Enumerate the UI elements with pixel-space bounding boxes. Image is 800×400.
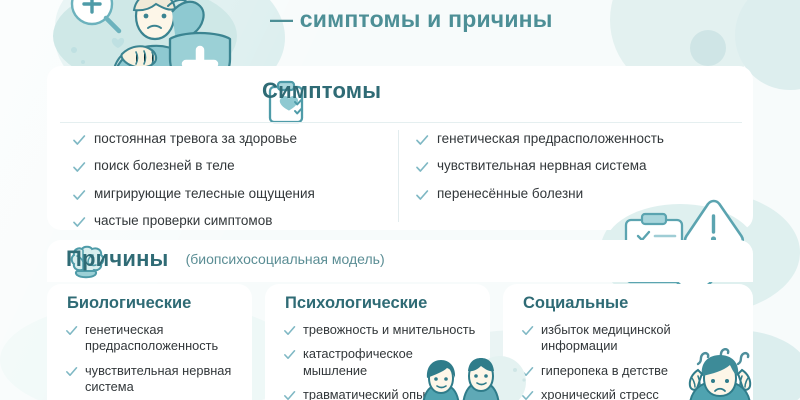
list-item: поиск болезней в теле (72, 158, 392, 175)
check-icon (72, 215, 85, 228)
list-item-label: поиск болезней в теле (94, 158, 235, 175)
check-icon (283, 348, 296, 361)
symptoms-divider-vertical (398, 130, 399, 222)
check-icon (283, 389, 296, 400)
list-item-label: хронический стресс (541, 387, 659, 400)
couple-illustration (405, 356, 535, 400)
check-icon (521, 324, 534, 337)
stressed-woman-illustration (668, 348, 798, 400)
check-icon (415, 188, 428, 201)
causes-heading-text: Причины (66, 246, 169, 272)
list-item: постоянная тревога за здоровье (72, 131, 392, 148)
list-item: частые проверки симптомов (72, 213, 392, 230)
check-icon (72, 133, 85, 146)
list-item: мигрирующие телесные ощущения (72, 186, 392, 203)
check-icon (415, 133, 428, 146)
causes-heading-note: (биопсихосоциальная модель) (186, 251, 385, 267)
list-item-label: частые проверки симптомов (94, 213, 272, 230)
list-item: тревожность и мнительность (283, 322, 480, 338)
card-title: Биологические (67, 294, 252, 313)
list-item: генетическая предрасположенность (65, 322, 242, 355)
list-item: чувствительная нервная система (65, 363, 242, 396)
causes-card-biological: Биологические генетическая предрасположе… (47, 284, 252, 400)
check-icon (283, 324, 296, 337)
card-title: Социальные (523, 294, 753, 313)
symptoms-heading: Симптомы (262, 78, 381, 104)
list-item-label: чувствительная нервная система (85, 363, 242, 396)
infographic-page: — симптомы и причины Симптомы постоянная… (0, 0, 800, 400)
list-item-label: чувствительная нервная система (437, 158, 647, 175)
check-icon (65, 324, 78, 337)
check-icon (415, 160, 428, 173)
check-icon (72, 160, 85, 173)
list-item-label: гиперопека в детстве (541, 363, 668, 379)
list-item: генетическая предрасположенность (415, 131, 745, 148)
causes-list-biological: генетическая предрасположенностьчувствит… (65, 322, 242, 396)
list-item-label: мигрирующие телесные ощущения (94, 186, 315, 203)
list-item: чувствительная нервная система (415, 158, 745, 175)
causes-heading: Причины (биопсихосоциальная модель) (66, 246, 385, 272)
list-item-label: тревожность и мнительность (303, 322, 475, 338)
card-title: Психологические (285, 294, 490, 313)
page-title: — симптомы и причины (270, 6, 553, 33)
check-icon (72, 188, 85, 201)
symptoms-heading-text: Симптомы (262, 78, 381, 104)
check-icon (65, 365, 78, 378)
list-item-label: генетическая предрасположенность (85, 322, 242, 355)
list-item-label: генетическая предрасположенность (437, 131, 664, 148)
list-item-label: постоянная тревога за здоровье (94, 131, 297, 148)
list-item-label: перенесённые болезни (437, 186, 583, 203)
symptoms-list-left: постоянная тревога за здоровьепоиск боле… (72, 131, 392, 241)
symptoms-divider-horizontal (60, 122, 742, 123)
